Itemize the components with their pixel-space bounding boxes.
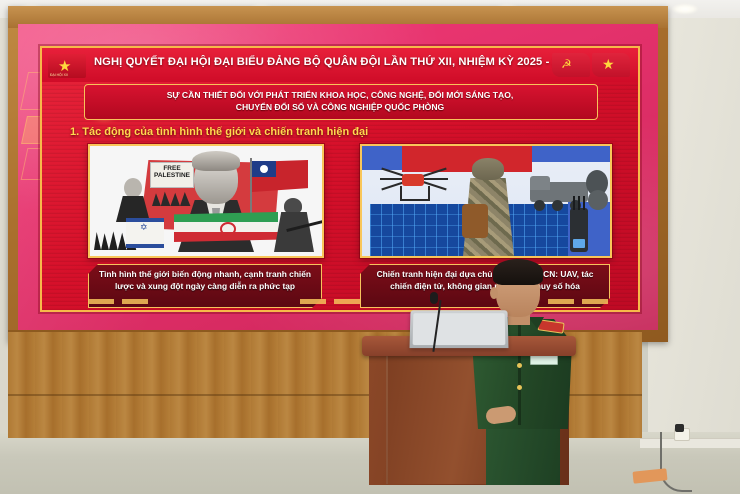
uniform-button	[517, 363, 522, 368]
slide-subtitle-line2: CHUYỂN ĐỔI SỐ VÀ CÔNG NGHIỆP QUỐC PHÒNG	[236, 102, 445, 112]
slide-subtitle: SỰ CẦN THIẾT ĐỐI VỚI PHÁT TRIỂN KHOA HỌC…	[93, 89, 587, 114]
vietnam-flag-emblem-icon: ★ ĐẠI HỘI XII	[48, 54, 86, 78]
sign-text: FREE PALESTINE	[151, 165, 193, 179]
national-flag-icon: ★	[592, 53, 630, 77]
microphone-icon	[430, 292, 438, 304]
ceiling-downlight	[672, 4, 698, 14]
laptop	[410, 310, 509, 348]
power-cable	[660, 432, 692, 492]
military-officer-speaker	[470, 255, 574, 485]
hammer-sickle-icon: ☭	[561, 58, 572, 70]
free-palestine-sign: FREE PALESTINE	[150, 162, 194, 188]
taiwan-sun-icon	[260, 165, 268, 173]
party-flag-icon: ☭	[552, 53, 590, 77]
radar-truck-icon	[530, 170, 608, 210]
politician-figure	[116, 178, 150, 220]
slide-title: NGHỊ QUYẾT ĐẠI HỘI ĐẠI BIỂU ĐẢNG BỘ QUÂN…	[94, 56, 594, 68]
world-politics-collage-image: FREE PALESTINE ✡	[88, 144, 324, 258]
left-caption-text: Tình hình thế giới biến động nhanh, cạnh…	[89, 265, 321, 292]
speaker-trousers	[486, 427, 560, 485]
speaker-ear	[490, 287, 498, 299]
iran-emblem-icon	[220, 222, 236, 236]
blue-block	[532, 146, 610, 162]
uniform-button	[517, 385, 522, 390]
laptop-screen	[413, 313, 506, 345]
yellow-star-icon: ★	[602, 57, 615, 71]
slide-body-heading: 1. Tác động của tình hình thế giới và ch…	[70, 126, 510, 138]
slide-subtitle-ribbon: SỰ CẦN THIẾT ĐỐI VỚI PHÁT TRIỂN KHOA HỌC…	[84, 84, 598, 120]
slide-subtitle-line1: SỰ CẦN THIẾT ĐỐI VỚI PHÁT TRIỂN KHOA HỌC…	[167, 90, 514, 100]
speaker-hair	[493, 259, 543, 285]
emblem-caption: ĐẠI HỘI XII	[50, 73, 68, 77]
blue-block	[362, 146, 402, 170]
trump-hair	[192, 151, 240, 171]
modern-warfare-collage-image	[360, 144, 612, 258]
soldier-with-backpack	[458, 158, 518, 256]
military-drone-icon	[376, 168, 450, 202]
signal-jammer-icon	[570, 208, 588, 252]
plug-icon	[675, 424, 684, 432]
flag-pair: ☭ ★	[552, 51, 632, 81]
screenshot-scene: ★ ĐẠI HỘI XII NGHỊ QUYẾT ĐẠI HỘI ĐẠI BIỂ…	[0, 0, 740, 494]
star-of-david-icon: ✡	[140, 223, 148, 232]
